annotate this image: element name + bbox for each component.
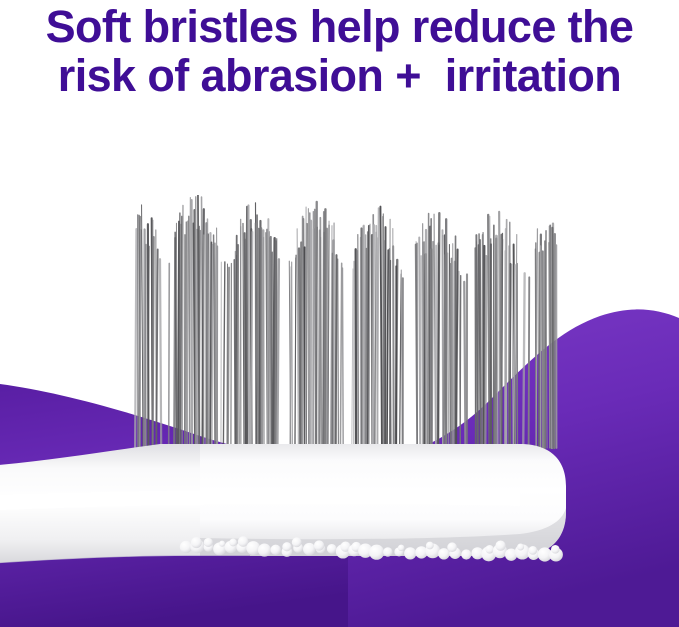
bristle-strand — [135, 229, 136, 448]
bristle-strand — [207, 219, 208, 448]
bristle-strand — [269, 238, 270, 448]
bristle-strand — [464, 282, 465, 448]
bead — [204, 538, 213, 547]
bead — [551, 545, 560, 554]
bristle-strand — [460, 276, 461, 448]
bristle-strand — [478, 245, 479, 448]
bristle-strand — [326, 229, 327, 448]
bristle-strand — [246, 207, 247, 448]
bristle-strand — [390, 261, 391, 448]
bristle-strand — [550, 225, 551, 448]
bristle-strand — [153, 237, 154, 448]
bristle-strand — [506, 220, 507, 448]
illustration-svg — [0, 0, 679, 627]
bristle-strand — [497, 236, 498, 448]
bristle-strand — [480, 240, 481, 448]
bristle-strand — [231, 264, 232, 448]
bristle-strand — [182, 206, 183, 448]
bristle-strand — [140, 230, 141, 448]
bristle-strand — [373, 225, 374, 448]
bead — [219, 541, 225, 547]
bristle-strand — [262, 230, 263, 448]
product-illustration — [0, 0, 679, 627]
bristle-strand — [275, 241, 276, 448]
bristle-strand — [336, 255, 337, 448]
bead — [528, 546, 537, 555]
bristle-strand — [277, 259, 278, 448]
bristle-strand — [523, 273, 524, 448]
bead — [485, 545, 494, 554]
bead — [314, 540, 324, 550]
bead — [495, 541, 505, 551]
bristle-strand — [236, 255, 237, 448]
bead — [271, 545, 281, 555]
bead — [258, 544, 271, 557]
bristle-strand — [342, 268, 343, 448]
bristle-strand — [552, 228, 553, 448]
bead — [383, 547, 392, 556]
bead — [238, 536, 249, 547]
bristle-strand — [438, 213, 439, 448]
bead — [282, 542, 291, 551]
bristle-strand — [491, 239, 492, 448]
bristle-strand — [529, 277, 530, 448]
bead — [398, 545, 405, 552]
bristle-strand — [264, 237, 265, 448]
bead — [229, 539, 237, 547]
bristle-strand — [428, 213, 429, 448]
bristle-strand — [292, 262, 293, 448]
bristle-strand — [358, 235, 359, 448]
bristle-strand — [300, 242, 301, 448]
bristle-strand — [169, 263, 170, 448]
bead — [327, 544, 337, 554]
bristle-strand — [160, 259, 161, 448]
bead — [404, 547, 416, 559]
bristle-strand — [212, 245, 213, 448]
bristle-strand — [228, 268, 229, 448]
bristle-strand — [510, 264, 511, 448]
bristle-strand — [316, 202, 317, 448]
bristle-strand — [499, 212, 500, 448]
bead — [292, 537, 302, 547]
bead — [438, 548, 449, 559]
bristle-strand — [178, 221, 179, 448]
bristle-strand — [248, 205, 249, 448]
bristle-strand — [237, 245, 238, 448]
bristle-strand — [545, 231, 546, 448]
bead — [517, 543, 524, 550]
bristle-strand — [488, 215, 489, 448]
bristle-strand — [338, 259, 339, 448]
bead — [191, 537, 202, 548]
bristle-strand — [432, 242, 433, 448]
bead — [303, 543, 316, 556]
bristle-strand — [485, 256, 486, 448]
bead — [447, 542, 457, 552]
bristle-strand — [508, 246, 509, 448]
bristle-strand — [306, 207, 307, 448]
bead — [461, 549, 471, 559]
bristle-strand — [361, 228, 362, 448]
bead — [426, 542, 434, 550]
bristle-strand — [383, 217, 384, 448]
bristle-strand — [396, 260, 397, 448]
bristle-strand — [495, 239, 496, 448]
bead — [246, 541, 260, 555]
bristle-strand — [313, 229, 314, 448]
bristle-strand — [393, 246, 394, 448]
bristle-strand — [363, 226, 364, 448]
bristle-strand — [426, 230, 427, 448]
bristle-strand — [420, 256, 421, 448]
bristle-strand — [452, 259, 453, 448]
bead — [369, 545, 384, 560]
ad-creative-canvas: Soft bristles help reduce the risk of ab… — [0, 0, 679, 627]
